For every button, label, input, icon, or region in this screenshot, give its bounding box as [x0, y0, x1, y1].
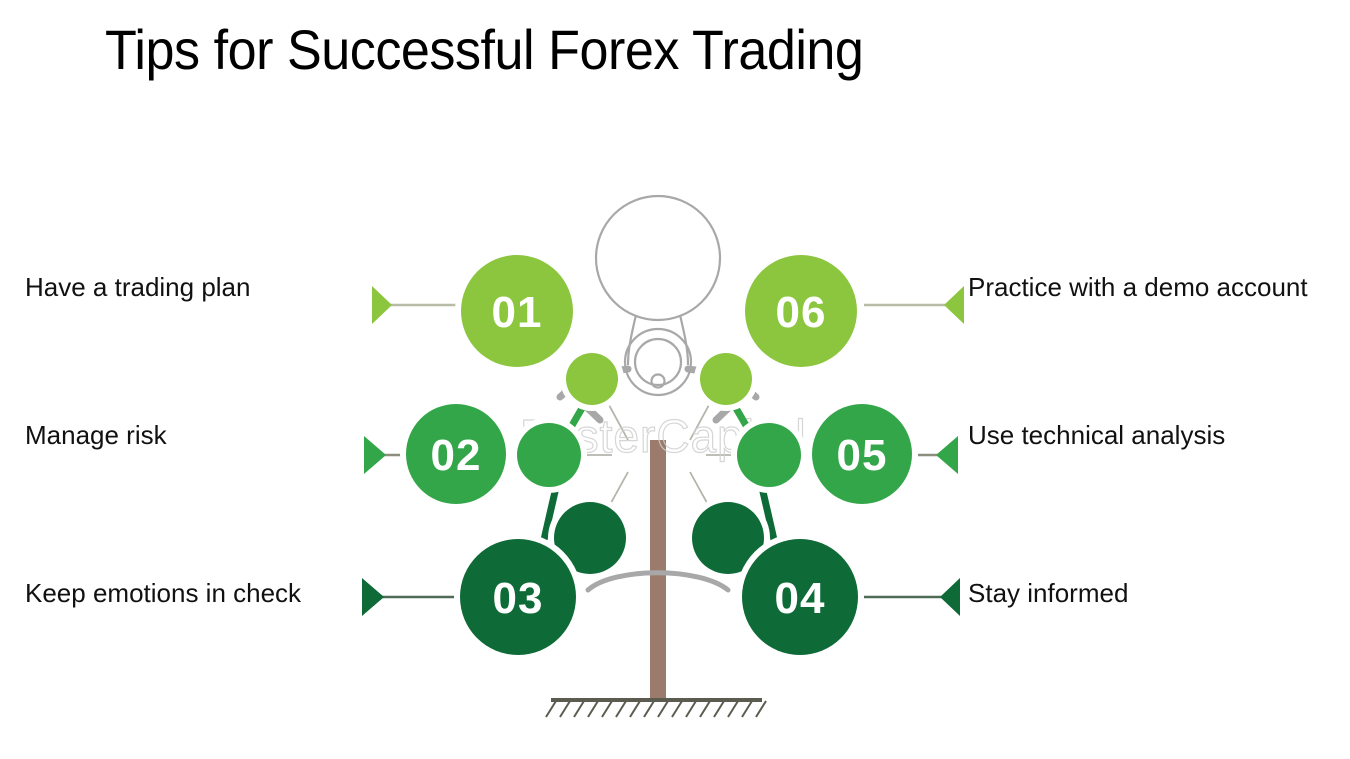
node-06-satellite — [700, 353, 752, 405]
arrow-05 — [936, 436, 958, 474]
label-have-a-trading-plan: Have a trading plan — [25, 270, 355, 304]
node-01-satellite — [566, 353, 618, 405]
arrow-03 — [362, 578, 384, 616]
node-02-number: 02 — [431, 431, 482, 480]
arrow-01 — [372, 286, 392, 324]
label-manage-risk: Manage risk — [25, 418, 355, 452]
tree-trunk — [650, 440, 666, 700]
label-stay-informed: Stay informed — [968, 576, 1338, 610]
node-04-number: 04 — [775, 574, 826, 623]
arrow-04 — [940, 578, 960, 616]
tree-inner-ring-outer — [635, 339, 681, 385]
label-keep-emotions-in-check: Keep emotions in check — [25, 576, 355, 610]
arrow-02 — [364, 436, 386, 474]
node-06[interactable]: 06 — [694, 249, 863, 411]
node-05-number: 05 — [837, 431, 888, 480]
node-02-satellite — [517, 423, 581, 487]
node-03-number: 03 — [493, 574, 544, 623]
label-use-technical-analysis: Use technical analysis — [968, 418, 1338, 452]
tree-infographic: FasterCapital — [0, 0, 1350, 759]
tree-crown-circle — [596, 196, 720, 320]
ground-hatching — [546, 701, 766, 717]
node-06-number: 06 — [776, 288, 827, 337]
node-01-number: 01 — [492, 288, 543, 337]
node-05-satellite — [737, 423, 801, 487]
infographic-canvas: FasterCapital — [0, 0, 1350, 759]
arrow-06 — [944, 286, 964, 324]
node-04[interactable]: 04 — [686, 496, 864, 661]
label-practice-with-a-demo-account: Practice with a demo account — [968, 270, 1338, 304]
